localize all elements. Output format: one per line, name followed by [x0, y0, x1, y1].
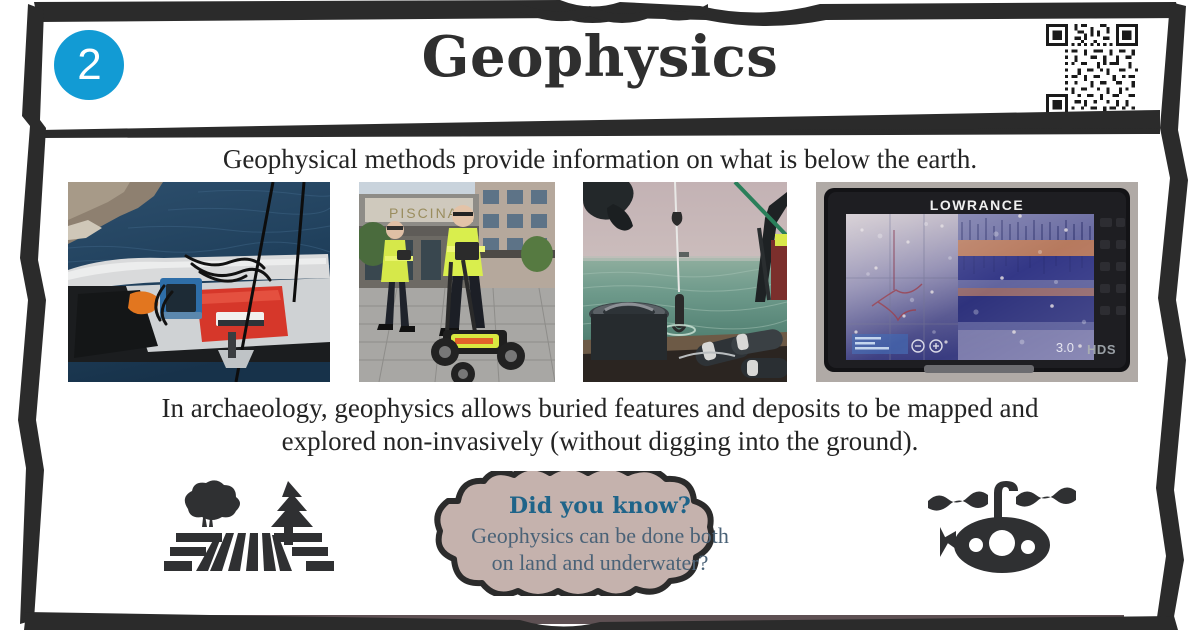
bottom-accent-bar — [78, 615, 1124, 624]
lead-description: Geophysical methods provide information … — [44, 130, 1156, 175]
bubble-title: Did you know? — [509, 493, 691, 521]
svg-text:PISCINA: PISCINA — [389, 205, 459, 221]
photo-boat-survey-equipment — [68, 182, 330, 382]
poster-root: 2 Geophysics — [0, 0, 1200, 630]
bubble-line-1: Geophysics can be done both — [471, 522, 729, 550]
did-you-know-bubble: Did you know? Geophysics can be done bot… — [400, 471, 800, 596]
poster-body: Geophysical methods provide information … — [44, 130, 1156, 600]
submarine-icon — [922, 477, 1082, 583]
poster-header: 2 Geophysics — [40, 8, 1160, 120]
photo-gpr-survey: PISCINA — [359, 182, 555, 382]
photo-marine-deployment — [583, 182, 787, 382]
photo-strip: PISCINA — [68, 182, 1138, 382]
sub-description-line-2: explored non-invasively (without digging… — [44, 425, 1156, 458]
page-title: Geophysics — [40, 24, 1160, 90]
bubble-line-2: on land and underwater? — [492, 549, 709, 577]
photo-sonar-display: LOWRANCE — [816, 182, 1138, 382]
sub-description-line-1: In archaeology, geophysics allows buried… — [44, 392, 1156, 425]
sub-description: In archaeology, geophysics allows buried… — [44, 392, 1156, 458]
sonar-brand-label: LOWRANCE — [930, 197, 1024, 213]
qr-code-icon[interactable] — [1046, 24, 1138, 116]
field-with-trees-icon — [164, 477, 334, 583]
bottom-icon-row: Did you know? Geophysics can be done bot… — [44, 475, 1156, 590]
